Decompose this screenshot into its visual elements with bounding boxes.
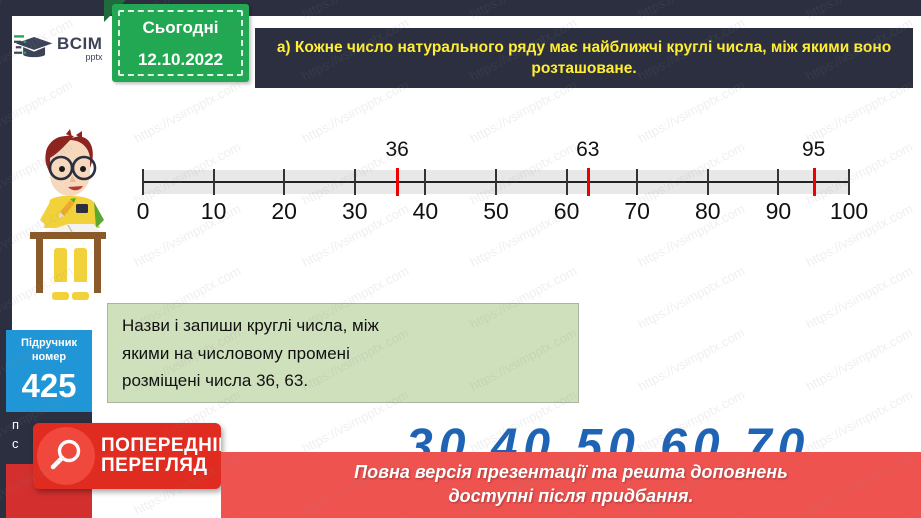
textbook-label-line1: Підручник [6, 337, 92, 351]
number-line-tick [848, 169, 850, 195]
date-badge-value: 12.10.2022 [116, 50, 245, 70]
magnifier-icon [46, 436, 86, 476]
textbook-label-line2: номер [6, 351, 92, 365]
brand-logo: BCIM pptx [14, 26, 106, 70]
number-line-tick [636, 169, 638, 195]
date-badge: Сьогодні 12.10.2022 [112, 4, 249, 82]
date-badge-label: Сьогодні [116, 18, 245, 38]
bottom-notice-banner: Повна версія презентації та решта доповн… [221, 452, 921, 518]
logo-subtitle: pptx [57, 53, 102, 62]
graduation-cap-icon [14, 31, 56, 65]
number-line-marker [813, 168, 816, 196]
number-line-tick [566, 169, 568, 195]
number-line-tick [777, 169, 779, 195]
number-line-tick-label: 50 [483, 198, 509, 225]
number-line-tick-label: 70 [624, 198, 650, 225]
number-line-tick-label: 30 [342, 198, 368, 225]
task-line: якими на числовому промені [122, 340, 564, 368]
number-line-tick [424, 169, 426, 195]
task-line: розміщені числа 36, 63. [122, 367, 564, 395]
preview-icon-circle [37, 427, 95, 485]
number-line-marker-label: 95 [802, 138, 825, 162]
header-banner: а) Кожне число натурального ряду має най… [255, 28, 913, 88]
number-line-tick-label: 90 [766, 198, 792, 225]
number-line-tick-label: 80 [695, 198, 721, 225]
textbook-number-badge: Підручник номер 425 [6, 330, 92, 412]
number-line-tick-label: 40 [413, 198, 439, 225]
bottom-banner-line1: Повна версія презентації та решта доповн… [354, 461, 788, 485]
textbook-number: 425 [6, 367, 92, 405]
slide-canvas: BCIM pptx Сьогодні 12.10.2022 а) Кожне ч… [0, 0, 921, 518]
number-line-tick [495, 169, 497, 195]
number-line-tick [142, 169, 144, 195]
preview-overlay-text: ПОПЕРЕДНІЙ ПЕРЕГЛЯД [101, 436, 221, 476]
number-line-tick-label: 60 [554, 198, 580, 225]
number-line-tick-label: 0 [137, 198, 150, 225]
header-text: а) Кожне число натурального ряду має най… [265, 37, 903, 80]
preview-line1: ПОПЕРЕДНІЙ [101, 436, 221, 456]
bottom-banner-text: Повна версія презентації та решта доповн… [354, 461, 788, 509]
number-line-tick [707, 169, 709, 195]
number-line-marker-label: 63 [576, 138, 599, 162]
preview-overlay-button[interactable]: ПОПЕРЕДНІЙ ПЕРЕГЛЯД [33, 423, 221, 489]
number-line-tick [283, 169, 285, 195]
number-line-tick-label: 100 [830, 198, 868, 225]
number-line-marker-label: 36 [385, 138, 408, 162]
number-line-tick-label: 20 [271, 198, 297, 225]
number-line-tick [213, 169, 215, 195]
bottom-banner-line2: доступні після придбання. [354, 485, 788, 509]
number-line-marker [587, 168, 590, 196]
number-line-tick [354, 169, 356, 195]
logo-title: BCIM [57, 35, 102, 52]
preview-line2: ПЕРЕГЛЯД [101, 456, 221, 476]
boy-writing-at-desk-illustration [16, 128, 112, 308]
number-line-marker [396, 168, 399, 196]
task-line: Назви і запиши круглі числа, між [122, 312, 564, 340]
task-text-box: Назви і запиши круглі числа, між якими н… [107, 303, 579, 403]
number-line: 366395 0102030405060708090100 [143, 148, 853, 226]
number-line-tick-label: 10 [201, 198, 227, 225]
